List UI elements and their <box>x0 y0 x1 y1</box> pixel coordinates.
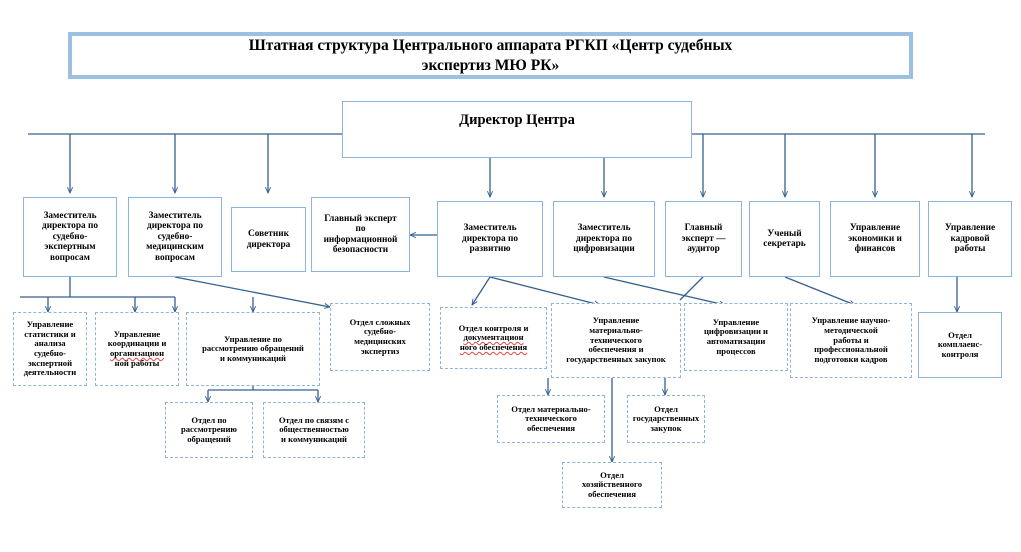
node-scientific-secretary[interactable]: Ученый секретарь <box>749 201 820 277</box>
node-dept-science-label: Управление научно- методической работы и… <box>794 316 908 364</box>
node-deputy-development-label: Заместитель директора по развитию <box>441 223 539 254</box>
node-dept-digitization-label: Управление цифровизации и автоматизации … <box>688 318 784 357</box>
org-chart-canvas: Штатная структура Центрального аппарата … <box>0 0 1021 552</box>
node-chief-expert-infosec[interactable]: Главный эксперт по информационной безопа… <box>311 197 410 272</box>
node-div-publicrel[interactable]: Отдел по связям с общественностью и комм… <box>263 402 365 458</box>
node-div-control-docs[interactable]: Отдел контроля и документацион ного обес… <box>440 307 547 369</box>
label-part-pre: Отдел контроля и <box>459 323 529 333</box>
node-deputy-medical[interactable]: Заместитель директора по судебно- медици… <box>128 197 222 277</box>
node-advisor[interactable]: Советник директора <box>231 207 306 272</box>
label-part-post: ной работы <box>115 358 160 368</box>
node-div-complex-med[interactable]: Отдел сложных судебно- медицинских экспе… <box>330 303 430 371</box>
node-scientific-secretary-label: Ученый секретарь <box>753 229 816 250</box>
chart-title-banner: Штатная структура Центрального аппарата … <box>68 32 913 79</box>
node-div-appeals-label: Отдел по рассмотрению обращений <box>169 416 249 445</box>
node-dept-science[interactable]: Управление научно- методической работы и… <box>790 303 912 378</box>
node-dept-digitization[interactable]: Управление цифровизации и автоматизации … <box>684 303 788 371</box>
node-deputy-digital-label: Заместитель директора по цифровизации <box>557 223 651 254</box>
node-deputy-development[interactable]: Заместитель директора по развитию <box>437 201 543 277</box>
node-div-procurement-label: Отдел государственных закупок <box>631 405 701 434</box>
node-dept-coordination[interactable]: Управление координации и организацион но… <box>95 312 179 386</box>
node-dept-economics-label: Управление экономики и финансов <box>834 223 916 254</box>
node-div-publicrel-label: Отдел по связям с общественностью и комм… <box>267 416 361 445</box>
node-chief-expert-auditor-label: Главный эксперт — аудитор <box>669 223 738 254</box>
node-deputy-medical-label: Заместитель директора по судебно- медици… <box>132 211 218 263</box>
node-dept-economics[interactable]: Управление экономики и финансов <box>830 201 920 277</box>
node-div-compliance-label: Отдел комплаенс- контроля <box>922 331 998 360</box>
node-div-household[interactable]: Отдел хозяйственного обеспечения <box>562 462 662 508</box>
node-div-procurement[interactable]: Отдел государственных закупок <box>627 395 705 443</box>
node-chief-expert-auditor[interactable]: Главный эксперт — аудитор <box>665 201 742 277</box>
node-dept-hr-label: Управление кадровой работы <box>932 223 1008 254</box>
node-div-control-docs-label: Отдел контроля и документацион ного обес… <box>444 324 543 353</box>
node-dept-appeals-label: Управление по рассмотрению обращений и к… <box>190 335 316 364</box>
node-dept-appeals[interactable]: Управление по рассмотрению обращений и к… <box>186 312 320 386</box>
node-dept-coordination-label: Управление координации и организацион но… <box>99 330 175 369</box>
node-dept-hr[interactable]: Управление кадровой работы <box>928 201 1012 277</box>
node-dept-logistics[interactable]: Управление материально- технического обе… <box>551 303 681 378</box>
node-chief-expert-infosec-label: Главный эксперт по информационной безопа… <box>315 214 406 256</box>
node-div-logistics-label: Отдел материально- технического обеспече… <box>501 405 601 434</box>
node-div-compliance[interactable]: Отдел комплаенс- контроля <box>918 312 1002 378</box>
node-advisor-label: Советник директора <box>235 229 302 250</box>
label-part-misspelled: организацион <box>110 348 164 358</box>
node-deputy-digital[interactable]: Заместитель директора по цифровизации <box>553 201 655 277</box>
node-div-complex-med-label: Отдел сложных судебно- медицинских экспе… <box>334 318 426 357</box>
label-part-misspelled: документацион ного обеспечения <box>460 332 527 352</box>
node-director[interactable]: Директор Центра <box>342 101 692 158</box>
node-dept-statistics-label: Управление статистики и анализа судебно-… <box>17 320 83 378</box>
node-dept-logistics-label: Управление материально- технического обе… <box>555 316 677 364</box>
chart-title: Штатная структура Центрального аппарата … <box>227 36 755 75</box>
node-director-label: Директор Центра <box>346 112 688 128</box>
node-deputy-forensic-label: Заместитель директора по судебно- экспер… <box>27 211 113 263</box>
node-deputy-forensic[interactable]: Заместитель директора по судебно- экспер… <box>23 197 117 277</box>
node-div-logistics[interactable]: Отдел материально- технического обеспече… <box>497 395 605 443</box>
node-div-appeals[interactable]: Отдел по рассмотрению обращений <box>165 402 253 458</box>
label-part-pre: Управление координации и <box>108 329 167 349</box>
node-div-household-label: Отдел хозяйственного обеспечения <box>566 471 658 500</box>
node-dept-statistics[interactable]: Управление статистики и анализа судебно-… <box>13 312 87 386</box>
